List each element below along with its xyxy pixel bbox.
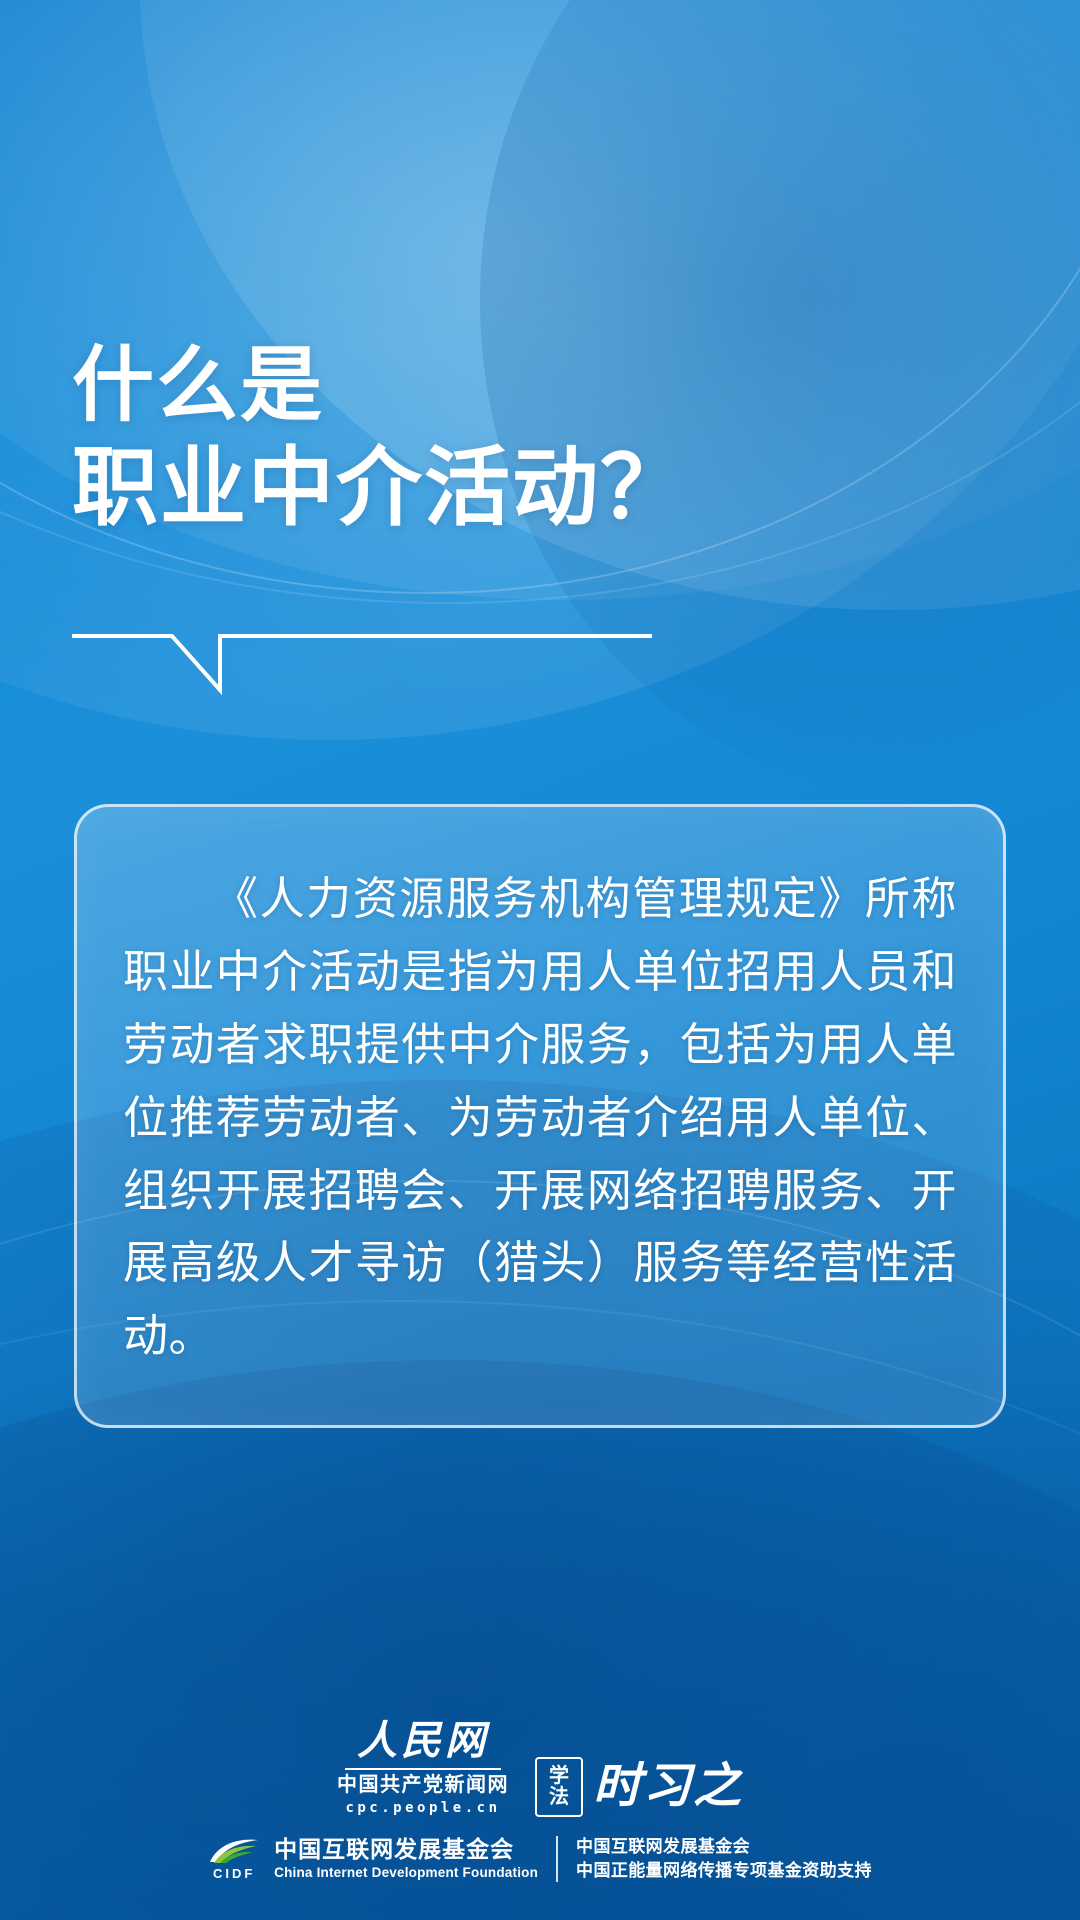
- title-underline-decoration: [72, 628, 652, 705]
- xuefa-badge-top: 学: [549, 1766, 569, 1787]
- footer: 人民网 中国共产党新闻网 cpc.people.cn 学 法 时习之: [0, 1720, 1080, 1884]
- page-title: 什么是 职业中介活动？: [72, 336, 688, 541]
- cidf-support-text: 中国互联网发展基金会 中国正能量网络传播专项基金资助支持: [576, 1835, 872, 1884]
- cidf-support-line-2: 中国正能量网络传播专项基金资助支持: [576, 1859, 872, 1884]
- cidf-support-line-1: 中国互联网发展基金会: [576, 1835, 872, 1860]
- shixizhi-wordmark: 时习之: [593, 1763, 743, 1811]
- people-cn-logo: 人民网 中国共产党新闻网 cpc.people.cn: [337, 1720, 509, 1817]
- people-cn-name: 中国共产党新闻网: [337, 1774, 509, 1797]
- cidf-logo: CIDF: [208, 1838, 260, 1881]
- people-cn-wordmark: 人民网: [357, 1720, 489, 1765]
- cidf-abbreviation: CIDF: [213, 1866, 255, 1881]
- xuefa-badge: 学 法: [535, 1757, 583, 1817]
- brand-row: 人民网 中国共产党新闻网 cpc.people.cn 学 法 时习之: [337, 1720, 743, 1817]
- definition-text: 《人力资源服务机构管理规定》所称职业中介活动是指为用人单位招用人员和劳动者求职提…: [123, 863, 957, 1373]
- poster-root: 什么是 职业中介活动？ 《人力资源服务机构管理规定》所称职业中介活动是指为用人单…: [0, 0, 1080, 1920]
- xuefashixizhi-logo: 学 法 时习之: [535, 1757, 743, 1817]
- xuefa-badge-bottom: 法: [549, 1787, 569, 1808]
- cidf-names: 中国互联网发展基金会 China Internet Development Fo…: [274, 1837, 538, 1882]
- cidf-row: CIDF 中国互联网发展基金会 China Internet Developme…: [208, 1835, 872, 1884]
- cidf-wave-icon: [208, 1838, 260, 1864]
- cidf-vertical-divider: [556, 1836, 558, 1882]
- title-line-1: 什么是: [72, 336, 688, 436]
- people-cn-domain: cpc.people.cn: [345, 1799, 500, 1817]
- cidf-english-name: China Internet Development Foundation: [274, 1865, 538, 1882]
- definition-card: 《人力资源服务机构管理规定》所称职业中介活动是指为用人单位招用人员和劳动者求职提…: [74, 804, 1006, 1428]
- title-line-2: 职业中介活动？: [72, 436, 688, 541]
- cidf-chinese-name: 中国互联网发展基金会: [274, 1837, 538, 1863]
- people-cn-divider: [345, 1768, 501, 1770]
